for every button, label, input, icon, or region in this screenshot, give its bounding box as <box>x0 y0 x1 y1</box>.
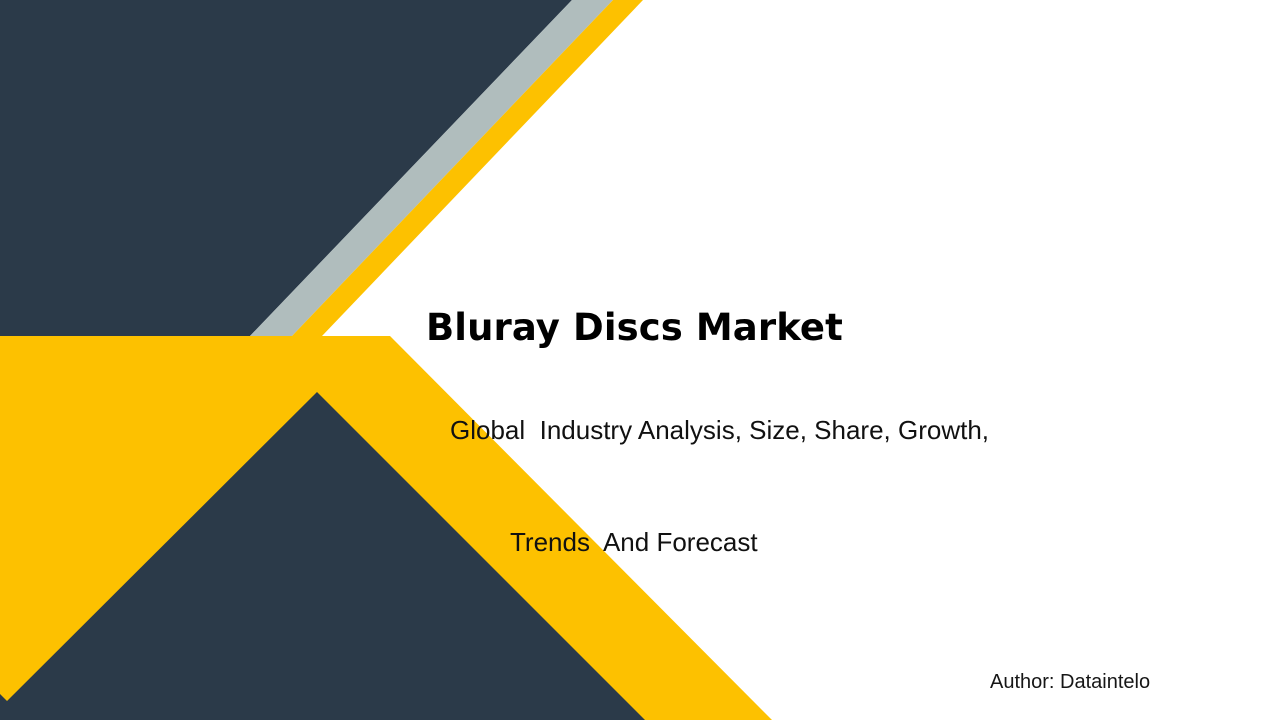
page-subtitle: Global Industry Analysis, Size, Share, G… <box>426 349 1206 607</box>
cover-slide: Bluray Discs Market Global Industry Anal… <box>0 0 1280 720</box>
cover-text-block: Bluray Discs Market Global Industry Anal… <box>426 308 1206 607</box>
subtitle-line-1: Global Industry Analysis, Size, Share, G… <box>450 417 1206 443</box>
subtitle-line-2: Trends And Forecast <box>450 495 1206 555</box>
author-label: Author: Dataintelo <box>990 671 1150 694</box>
page-title: Bluray Discs Market <box>426 308 1206 349</box>
